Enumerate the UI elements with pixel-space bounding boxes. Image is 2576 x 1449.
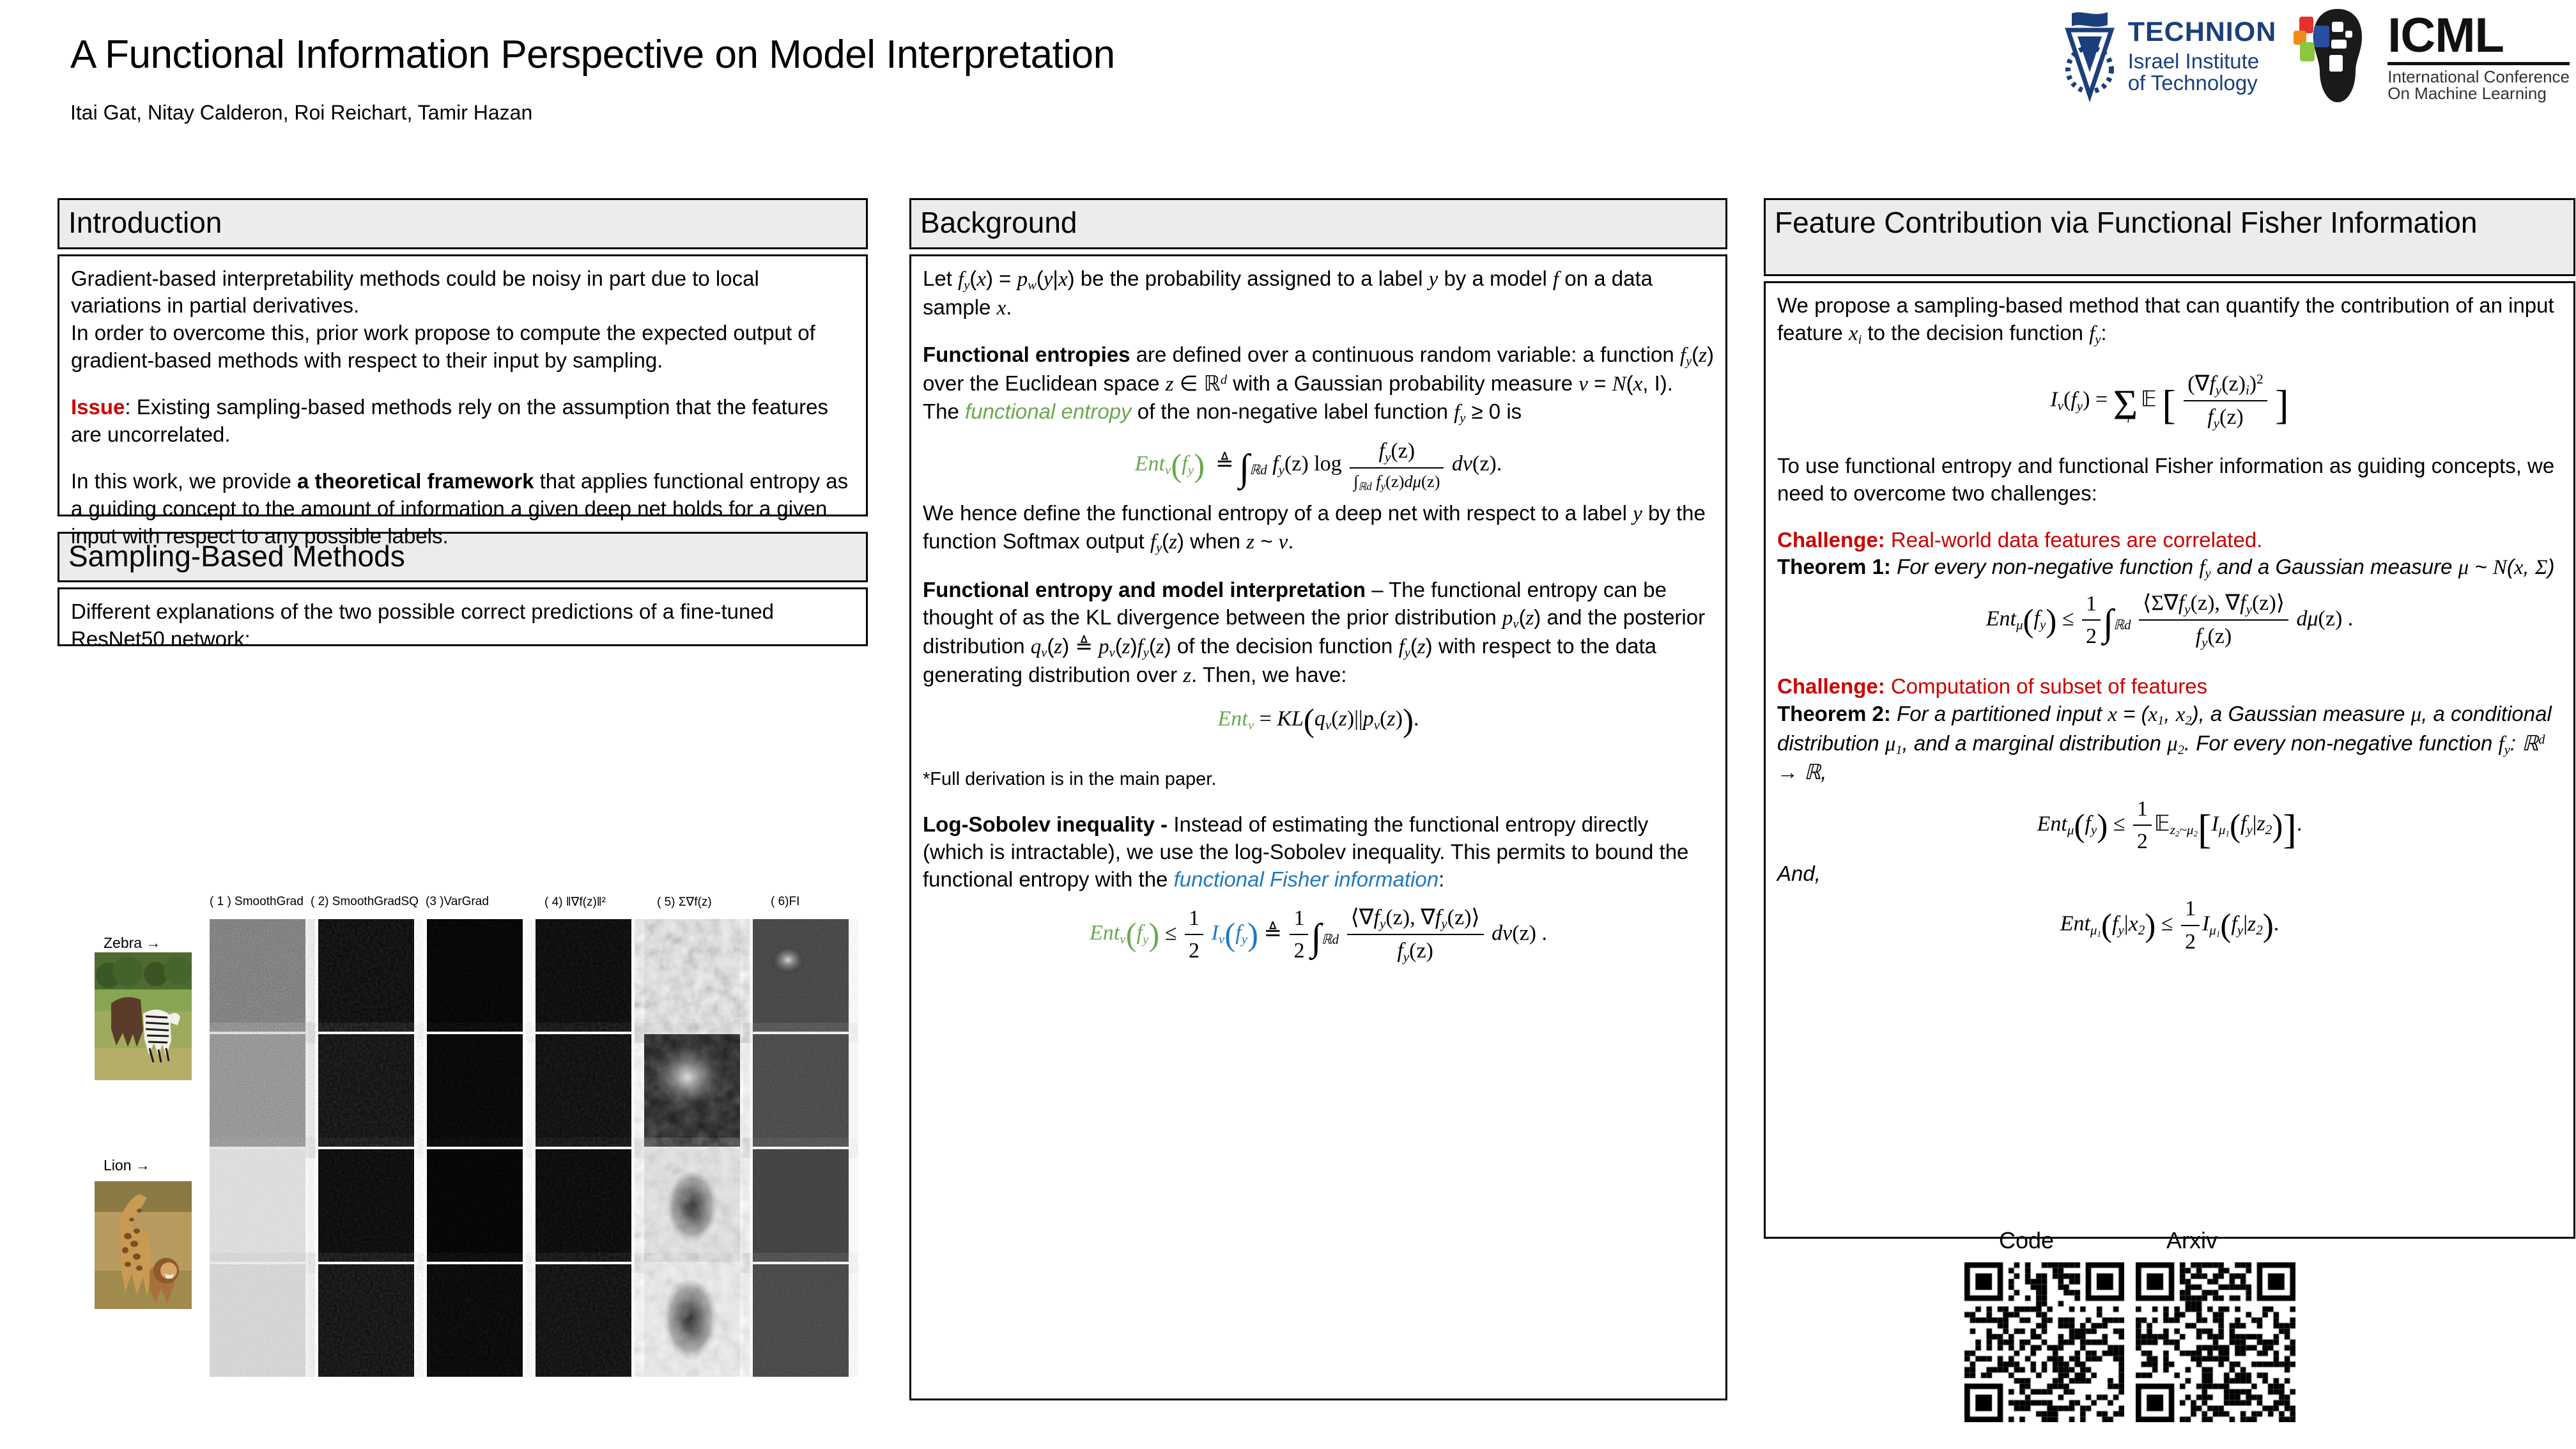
challenge-1-text: Real-world data features are correlated. xyxy=(1885,528,2263,552)
introduction-body: Gradient-based interpretability methods … xyxy=(58,254,868,516)
bg-footnote: *Full derivation is in the main paper. xyxy=(923,768,1714,792)
fig-colhead-3: (3 )VarGrad xyxy=(426,895,489,909)
fc-challenge-1: Challenge: Real-world data features are … xyxy=(1777,527,2562,554)
code-qr-label: Code xyxy=(1999,1227,2054,1254)
icml-logo: ICML International Conference On Machine… xyxy=(2293,5,2570,107)
issue-label: Issue xyxy=(71,395,125,419)
bg-blue-fisher-information: functional Fisher information xyxy=(1174,867,1439,891)
bg-green-functional-entropy: functional entropy xyxy=(965,399,1132,423)
saliency-figure: ( 1 ) SmoothGrad ( 2) SmoothGradSQ (3 )V… xyxy=(64,895,863,1381)
intro-issue: Issue: Existing sampling-based methods r… xyxy=(71,394,854,449)
fig-colhead-1: ( 1 ) SmoothGrad xyxy=(210,895,304,909)
saliency-grid xyxy=(210,919,861,1380)
theorem-1-label: Theorem 1: xyxy=(1777,555,1891,578)
technion-emblem-icon xyxy=(2060,8,2119,104)
challenge-2-label: Challenge: xyxy=(1777,674,1885,698)
fc-para-1: We propose a sampling-based method that … xyxy=(1777,292,2562,348)
zebra-horse-photo xyxy=(95,952,192,1080)
code-qr-code[interactable] xyxy=(1964,1262,2124,1422)
arxiv-qr-code[interactable] xyxy=(2136,1262,2295,1422)
bg-para-4: Functional entropy and model interpretat… xyxy=(923,577,1714,690)
poster-header: A Functional Information Perspective on … xyxy=(0,0,2576,173)
bg-bold-log-sobolev: Log-Sobolev inequality - xyxy=(923,812,1168,836)
fc-challenge-2: Challenge: Computation of subset of feat… xyxy=(1777,673,2562,701)
fc-para-2: To use functional entropy and functional… xyxy=(1777,453,2562,508)
fig-colhead-5: ( 5) Σ∇f(z) xyxy=(657,895,712,910)
introduction-heading: Introduction xyxy=(58,198,868,249)
fig-colhead-2: ( 2) SmoothGradSQ xyxy=(311,895,419,909)
fig-colhead-4: ( 4) ‖∇f(z)‖² xyxy=(544,895,606,910)
icml-name: ICML xyxy=(2387,12,2570,60)
equation-theorem-2a: Entμ(fy) ≤ 12𝔼z2~μ2[Iμ1(fy|z2)]. xyxy=(1777,795,2562,856)
bg-bold-functional-entropies: Functional entropies xyxy=(923,343,1130,366)
page-title: A Functional Information Perspective on … xyxy=(70,32,1115,77)
closing-pre: In this work, we provide xyxy=(71,469,297,493)
background-body: Let fy(x) = pw(y|x) be the probability a… xyxy=(909,254,1727,1400)
column-right: Feature Contribution via Functional Fish… xyxy=(1764,198,2575,1239)
fc-and-label: And, xyxy=(1777,860,2562,888)
intro-para-2: In order to overcome this, prior work pr… xyxy=(71,320,854,375)
background-heading: Background xyxy=(909,198,1727,249)
figure-column-headers: ( 1 ) SmoothGrad ( 2) SmoothGradSQ (3 )V… xyxy=(210,895,861,917)
bg-para-5: Log-Sobolev inequality - Instead of esti… xyxy=(923,811,1714,894)
equation-log-sobolev: Entν(fy) ≤ 12 Iν(fy) ≜ 12∫ℝd ⟨∇fy(z), ∇f… xyxy=(923,904,1714,966)
bg-para-3: We hence define the functional entropy o… xyxy=(923,500,1714,557)
technion-sub1: Israel Institute xyxy=(2128,50,2277,72)
challenge-1-label: Challenge: xyxy=(1777,528,1885,552)
equation-fisher-information: Iν(fy) = Σi 𝔼 [ (∇fy(z)i)2fy(z) ] xyxy=(1777,370,2562,433)
technion-name: TECHNION xyxy=(2128,19,2277,47)
sampling-text: Different explanations of the two possib… xyxy=(71,598,854,653)
issue-text: : Existing sampling-based methods rely o… xyxy=(71,395,828,446)
technion-logo: TECHNION Israel Institute of Technology xyxy=(2060,8,2277,104)
equation-kl-divergence: Entν = KL(qν(z)||pν(z)). xyxy=(923,700,1714,742)
icml-sub2: On Machine Learning xyxy=(2387,85,2570,102)
theorem-2-label: Theorem 2: xyxy=(1777,702,1891,725)
equation-theorem-1: Entμ(fy) ≤ 12∫ℝd ⟨Σ∇fy(z), ∇fy(z)⟩fy(z) … xyxy=(1777,589,2562,652)
column-left: Introduction Gradient-based interpretabi… xyxy=(58,198,868,646)
closing-bold: a theoretical framework xyxy=(297,469,534,493)
bg-para-1: Let fy(x) = pw(y|x) be the probability a… xyxy=(923,265,1714,322)
equation-functional-entropy-def: Entν(fy) ≜ ∫ℝd fy(z) log fy(z)∫ℝd fy(z)d… xyxy=(923,437,1714,493)
icml-divider xyxy=(2387,62,2570,65)
qr-code-area: Code Arxiv xyxy=(1955,1227,2390,1445)
fc-theorem-2: Theorem 2: For a partitioned input x = (… xyxy=(1777,701,2562,786)
bg-para-2: Functional entropies are defined over a … xyxy=(923,341,1714,427)
logo-group: TECHNION Israel Institute of Technology xyxy=(2060,5,2570,107)
author-list: Itai Gat, Nitay Calderon, Roi Reichart, … xyxy=(70,101,532,125)
challenge-2-text: Computation of subset of features xyxy=(1885,674,2207,698)
technion-sub2: of Technology xyxy=(2128,72,2277,94)
feature-heading: Feature Contribution via Functional Fish… xyxy=(1764,198,2575,276)
arxiv-qr-label: Arxiv xyxy=(2166,1227,2217,1254)
figure-row-label-lion: Lion → xyxy=(104,1157,150,1174)
equation-theorem-2b: Entμ1(fy|x2) ≤ 12Iμ1(fy|z2). xyxy=(1777,895,2562,956)
icml-emblem-icon xyxy=(2293,5,2382,107)
sampling-heading: Sampling-Based Methods xyxy=(58,532,868,583)
fc-theorem-1: Theorem 1: For every non-negative functi… xyxy=(1777,554,2562,582)
sampling-body: Different explanations of the two possib… xyxy=(58,587,868,646)
intro-para-1: Gradient-based interpretability methods … xyxy=(71,265,854,320)
fig-colhead-6: ( 6)FI xyxy=(771,895,799,909)
icml-sub1: International Conference xyxy=(2387,68,2570,85)
bg-bold-model-interpretation: Functional entropy and model interpretat… xyxy=(923,578,1366,601)
figure-row-label-zebra: Zebra → xyxy=(104,934,160,952)
giraffe-lion-photo xyxy=(95,1181,192,1309)
column-middle: Background Let fy(x) = pw(y|x) be the pr… xyxy=(909,198,1727,1400)
feature-body: We propose a sampling-based method that … xyxy=(1764,281,2575,1239)
